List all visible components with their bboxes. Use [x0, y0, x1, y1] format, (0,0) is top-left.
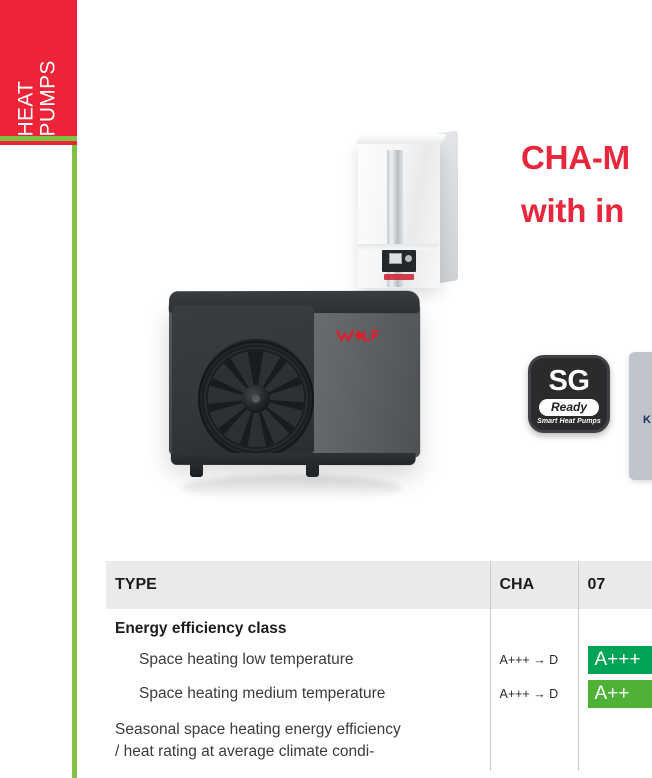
outdoor-unit-reflection	[182, 475, 402, 501]
table-row: Energy efficiency class	[106, 609, 652, 643]
cell-type: Space heating low temperature	[106, 643, 490, 677]
energy-class-badge: A++	[588, 680, 652, 708]
table-row: Space heating medium temperatureA+++ → D…	[106, 677, 652, 711]
indoor-unit-top	[355, 134, 446, 144]
left-vertical-rule	[72, 124, 77, 778]
cell-type: Seasonal space heating energy efficiency…	[106, 711, 490, 771]
indoor-unit-screen	[389, 253, 402, 264]
table-header: TYPE CHA 07	[106, 561, 652, 609]
sg-badge-subtitle: Smart Heat Pumps	[531, 418, 607, 425]
sg-ready-badge-icon: SG Ready Smart Heat Pumps	[528, 355, 610, 433]
column-header-type: TYPE	[106, 561, 490, 609]
indoor-unit-brand-logo	[384, 274, 414, 280]
cell-value	[578, 711, 652, 771]
category-tab: HEAT PUMPS	[0, 0, 77, 145]
category-tab-divider	[0, 136, 77, 141]
page-title: CHA-M with in	[521, 131, 652, 238]
product-image-group	[120, 110, 520, 520]
cell-type: Energy efficiency class	[106, 609, 490, 643]
table-row: Seasonal space heating energy efficiency…	[106, 711, 652, 771]
indoor-unit-knob	[405, 255, 412, 262]
table-row: Space heating low temperatureA+++ → DA++…	[106, 643, 652, 677]
fan-hub	[242, 385, 270, 413]
cell-cha-range: A+++ → D	[490, 677, 578, 711]
info-card-title: K	[643, 414, 651, 426]
outdoor-unit-right-panel	[309, 298, 420, 457]
page-title-line2: with in	[521, 184, 652, 237]
sg-badge-main-text: SG	[531, 365, 607, 398]
cell-value: A++	[578, 677, 652, 711]
info-card: K	[629, 352, 652, 480]
table-header-row: TYPE CHA 07	[106, 561, 652, 609]
cell-cha-range	[490, 609, 578, 643]
outdoor-unit-front-panel	[172, 305, 314, 455]
product-datasheet-page: HEAT PUMPS CHA-M with in	[0, 0, 652, 778]
column-header-cha: CHA	[490, 561, 578, 609]
cell-value: A+++	[578, 643, 652, 677]
sg-badge-ready-pill: Ready	[539, 399, 599, 416]
indoor-unit-body	[358, 140, 440, 288]
fan-grille-icon	[198, 339, 314, 459]
specification-table: TYPE CHA 07 Energy efficiency classSpace…	[106, 561, 652, 771]
energy-class-badge: A+++	[588, 646, 652, 674]
column-header-model: 07	[578, 561, 652, 609]
cell-value	[578, 609, 652, 643]
cell-cha-range	[490, 711, 578, 771]
indoor-unit-control-display	[382, 250, 416, 272]
outdoor-unit-base	[171, 453, 416, 465]
outdoor-unit-image	[160, 285, 425, 490]
page-title-line1: CHA-M	[521, 139, 630, 176]
outdoor-unit-foot-left	[190, 463, 203, 477]
table-body: Energy efficiency classSpace heating low…	[106, 609, 652, 771]
cell-cha-range: A+++ → D	[490, 643, 578, 677]
indoor-unit-image	[358, 132, 463, 292]
wolf-logo-icon	[336, 329, 380, 342]
category-tab-label: HEAT PUMPS	[16, 0, 61, 136]
cell-type: Space heating medium temperature	[106, 677, 490, 711]
